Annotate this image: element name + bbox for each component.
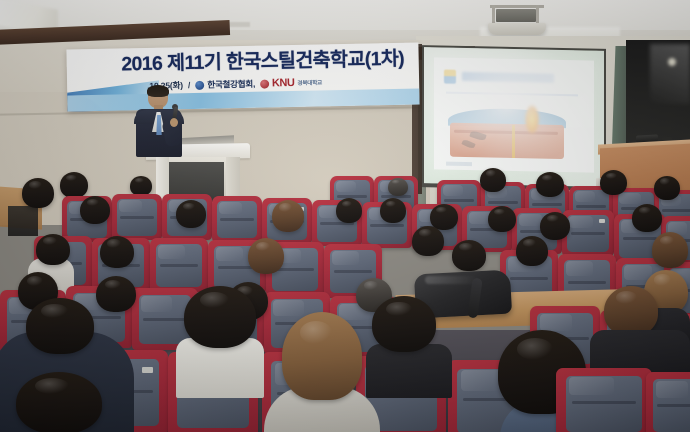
event-banner: 2016 제11기 한국스틸건축학교(1차) .10.25(화) / 한국철강협… — [66, 42, 419, 111]
audience-head — [176, 200, 206, 228]
screen-hotspot — [424, 47, 604, 187]
speaker — [130, 86, 192, 156]
left-side-table-shadow — [8, 206, 38, 236]
lecture-hall-photograph: 2016 제11기 한국스틸건축학교(1차) .10.25(화) / 한국철강협… — [0, 0, 690, 432]
audience-head — [36, 234, 70, 265]
audience-head — [336, 198, 362, 223]
audience-head — [536, 172, 564, 197]
audience-head — [248, 238, 284, 274]
audience-head — [452, 240, 486, 271]
projector-arm-right — [536, 5, 539, 25]
banner-university-name: 경북대학교 — [297, 78, 322, 86]
banner-knu-mark: KNU — [272, 77, 295, 89]
audience-head — [380, 198, 406, 223]
seat — [150, 238, 208, 292]
audience-head — [652, 232, 688, 268]
audience-head — [130, 176, 152, 196]
audience-head — [60, 172, 88, 198]
audience-head — [96, 276, 136, 312]
projector-body — [496, 9, 536, 22]
audience-head — [26, 298, 94, 354]
audience-head — [388, 178, 408, 196]
audience-head — [100, 236, 134, 268]
audience-torso — [366, 344, 452, 398]
audience-head — [272, 200, 304, 232]
projector-arm-left — [492, 5, 495, 25]
knu-logo-icon — [260, 79, 269, 88]
seat — [212, 196, 262, 242]
banner-organizer: 한국철강협회, — [207, 78, 255, 91]
audience-head — [80, 196, 110, 224]
doorway-light — [650, 44, 690, 104]
audience-head — [488, 206, 516, 232]
audience-head — [282, 312, 362, 400]
projector-housing — [488, 23, 546, 35]
projection-screen — [424, 47, 604, 187]
audience-head — [654, 176, 680, 200]
ksa-logo-icon — [195, 80, 204, 89]
audience-head — [16, 372, 102, 432]
seat — [556, 368, 652, 432]
audience-head — [412, 226, 444, 256]
doorway-glint — [668, 58, 676, 66]
audience-head — [372, 296, 436, 352]
audience-head — [516, 236, 548, 266]
audience-head — [604, 286, 658, 336]
audience-head — [600, 170, 627, 195]
seat — [646, 372, 690, 432]
audience-head — [22, 178, 54, 208]
audience-head — [480, 168, 506, 192]
audience-head — [430, 204, 458, 230]
audience-head — [540, 212, 570, 240]
audience-head — [184, 286, 256, 348]
backpack-highlight — [425, 276, 479, 284]
speaker-hair — [147, 85, 169, 97]
seat — [562, 210, 614, 256]
ceiling-mounted-projector — [486, 5, 548, 37]
audience-head — [632, 204, 662, 232]
speaker-hand — [170, 118, 178, 127]
seat — [112, 194, 162, 240]
